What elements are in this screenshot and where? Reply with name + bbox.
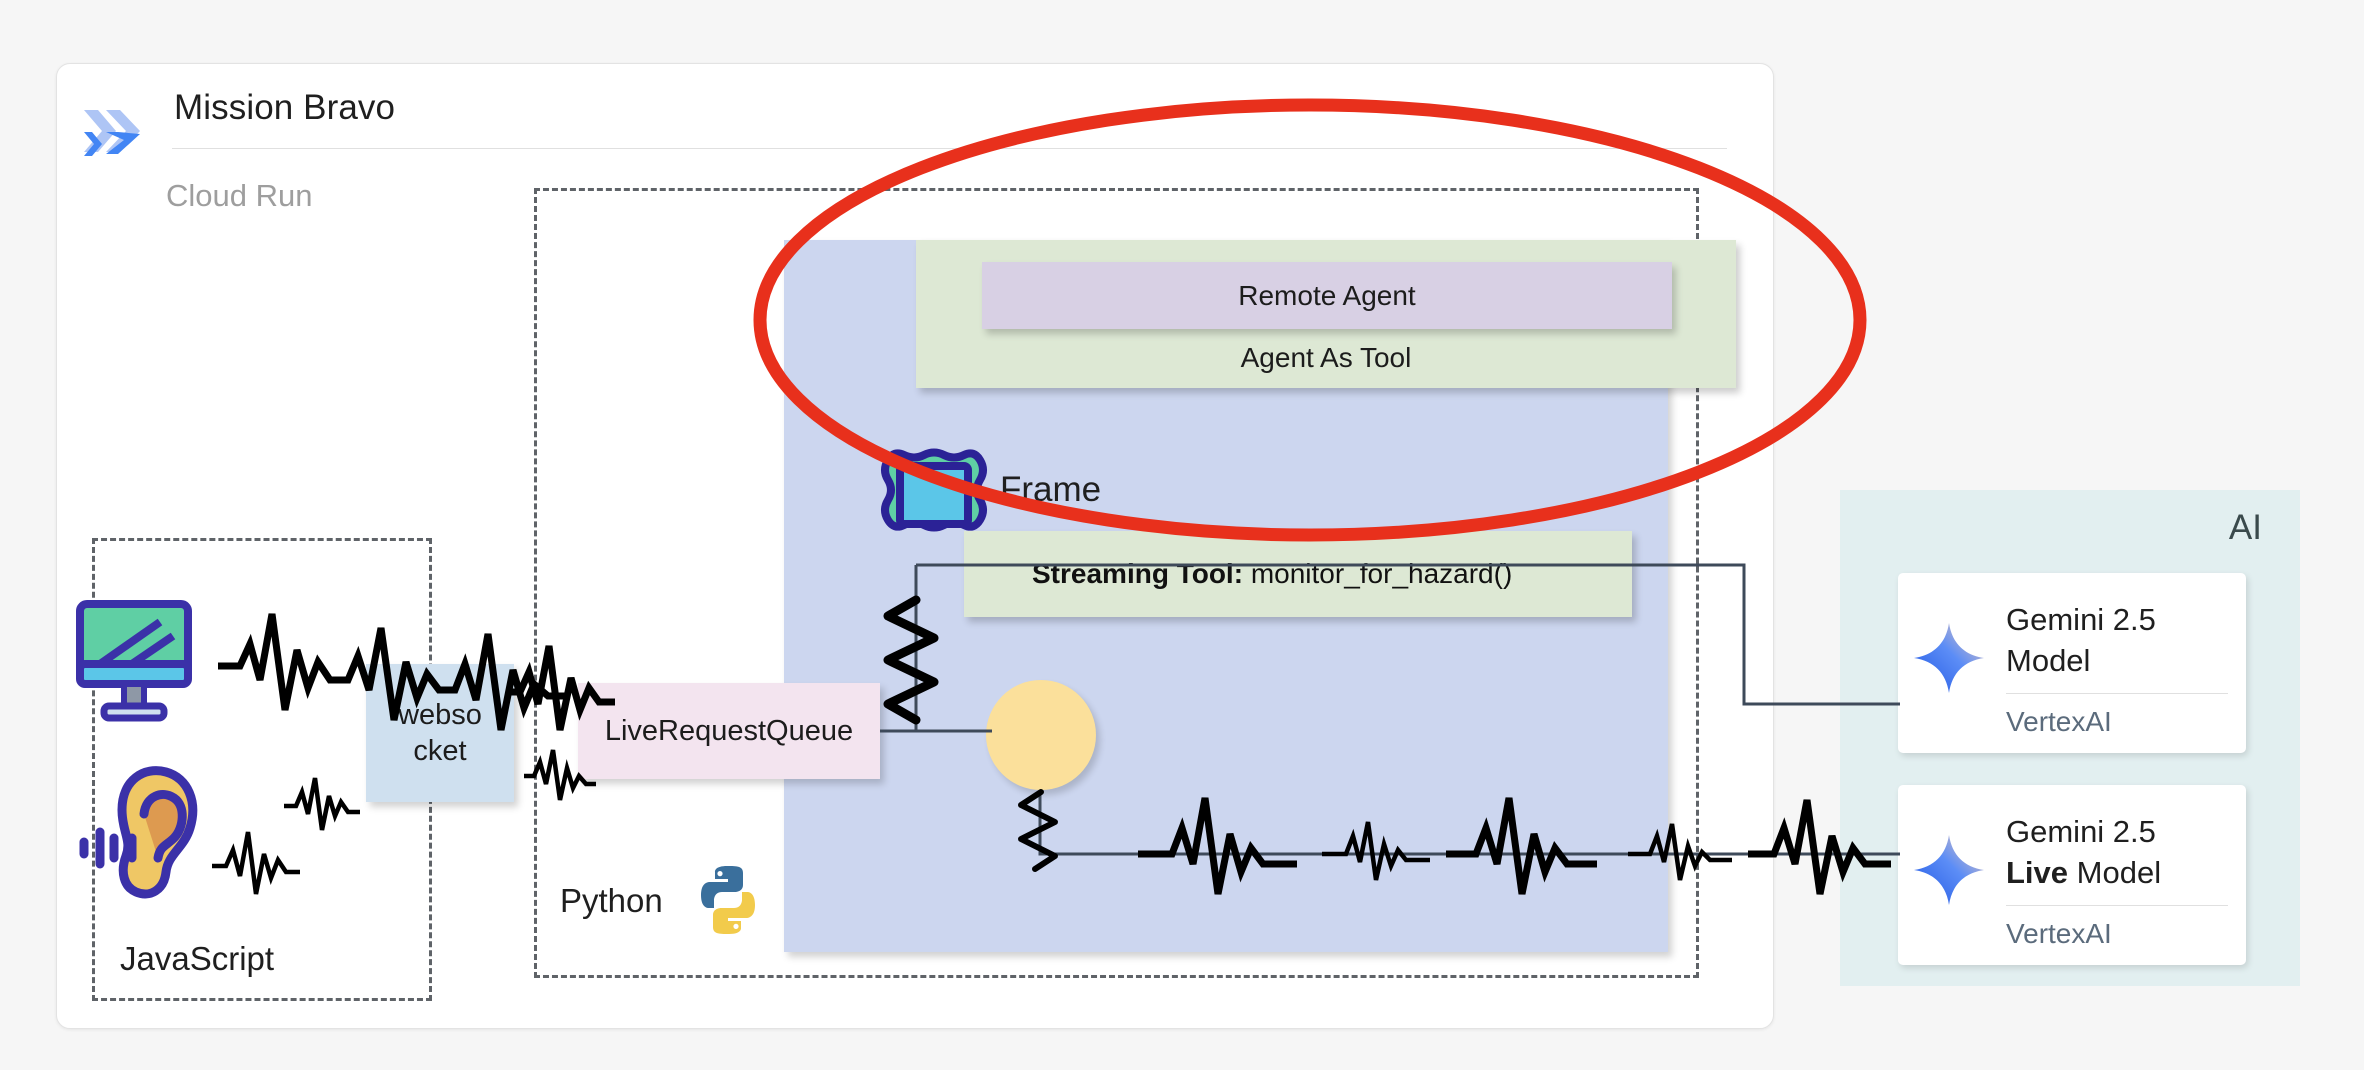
card-divider [2006,905,2228,906]
streaming-tool-function: monitor_for_hazard() [1243,558,1512,590]
ai-panel-title: AI [2229,508,2262,548]
python-region-label: Python [560,882,663,920]
streaming-tool-prefix: Streaming Tool: [1032,558,1243,590]
model-card-gemini[interactable]: Gemini 2.5Model VertexAI [1898,573,2246,753]
gemini-sparkle-icon [1912,833,1986,907]
model-card-gemini-live[interactable]: Gemini 2.5Live Model VertexAI [1898,785,2246,965]
page-title: Mission Bravo [174,88,395,128]
title-divider [172,148,1727,149]
agent-as-tool-label: Agent As Tool [916,342,1736,374]
remote-agent-box[interactable]: Remote Agent [982,262,1672,329]
gemini-sparkle-icon [1912,621,1986,695]
frame-label: Frame [1000,470,1101,510]
agent-node-circle[interactable] [986,680,1096,790]
model-name: Gemini 2.5Model [2006,599,2228,681]
websocket-box[interactable]: websocket [366,664,514,802]
live-request-queue-box[interactable]: LiveRequestQueue [578,683,880,779]
model-vendor: VertexAI [2006,918,2112,950]
card-divider [2006,693,2228,694]
websocket-label: websocket [398,697,482,770]
diagram-canvas: Mission Bravo Cloud Run Agent As Tool Re… [0,0,2364,1070]
cloud-run-subtitle: Cloud Run [166,178,312,214]
model-name: Gemini 2.5Live Model [2006,811,2228,893]
model-vendor: VertexAI [2006,706,2112,738]
streaming-tool-box[interactable]: Streaming Tool: monitor_for_hazard() [964,531,1632,617]
javascript-region-label: JavaScript [120,940,274,978]
cloud-run-chevron-icon [78,92,156,170]
python-logo-icon [690,862,766,938]
